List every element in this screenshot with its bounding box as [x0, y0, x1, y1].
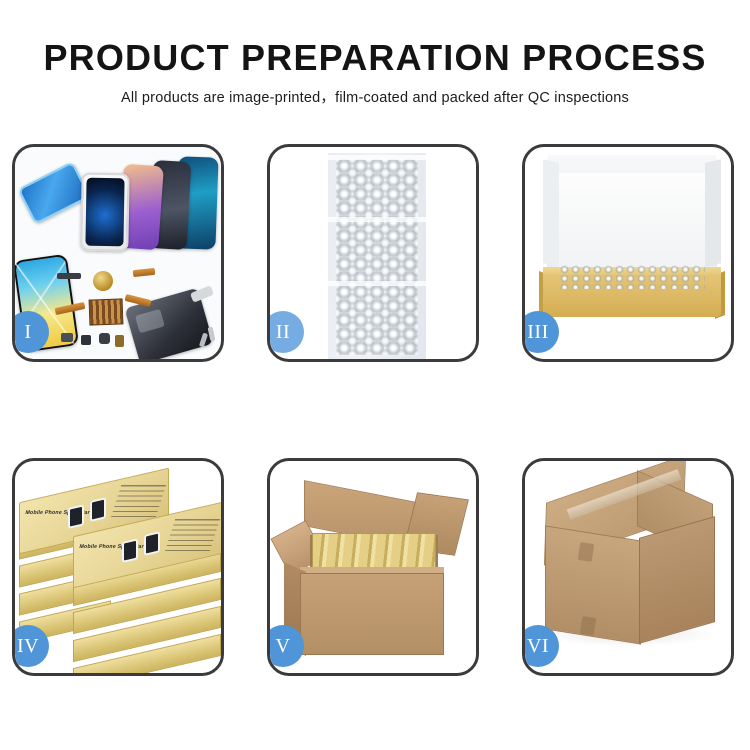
small-part-icon	[57, 273, 81, 279]
tweezers-icon	[190, 285, 214, 303]
chip-grid-icon	[89, 298, 124, 325]
page-subtitle: All products are image-printed，film-coat…	[0, 88, 750, 108]
small-part-icon	[61, 333, 73, 342]
phone-thumbnail-icon	[122, 538, 138, 563]
carton-tab-icon	[578, 542, 595, 562]
step-1-image: I	[15, 147, 221, 359]
spec-text-lines	[165, 516, 221, 551]
step-badge-5: V	[270, 625, 304, 667]
step-badge-3: III	[525, 311, 559, 353]
small-part-icon	[99, 333, 110, 344]
process-step-panel-2[interactable]: II	[267, 144, 479, 362]
phone-thumbnail-icon	[68, 504, 84, 529]
box-flap-left-icon	[543, 159, 559, 266]
retail-box-label-title: Mobile Phone Spare Parts	[25, 510, 96, 516]
phone-display-black-icon	[80, 173, 129, 252]
step-2-image: II	[270, 147, 476, 359]
box-flap-right-icon	[705, 159, 721, 266]
speaker-coil-icon	[93, 271, 113, 291]
phone-thumbnail-icon	[144, 531, 160, 556]
step-badge-2: II	[270, 311, 304, 353]
step-6-image: VI	[525, 461, 731, 673]
sleeve-seal-icon	[328, 217, 426, 222]
retail-box-label-title: Mobile Phone Spare Parts	[79, 544, 150, 550]
page-title: PRODUCT PREPARATION PROCESS	[0, 36, 750, 80]
step-3-image: III	[525, 147, 731, 359]
step-badge-6: VI	[525, 625, 559, 667]
small-part-icon	[115, 335, 124, 347]
process-step-panel-4[interactable]: Mobile Phone Spare Parts Mobile Phone Sp…	[12, 458, 224, 676]
small-part-icon	[81, 335, 91, 345]
blue-film-screen-icon	[17, 161, 90, 225]
sleeve-seal-icon	[328, 155, 426, 160]
product-preparation-infographic: PRODUCT PREPARATION PROCESS All products…	[0, 0, 750, 750]
sealed-carton-side-icon	[639, 516, 715, 644]
bubble-wrap-icon	[336, 159, 418, 355]
phone-thumbnail-icon	[90, 497, 106, 522]
step-4-image: Mobile Phone Spare Parts Mobile Phone Sp…	[15, 461, 221, 673]
box-lid-inner-icon	[557, 173, 707, 267]
process-step-panel-3[interactable]: III	[522, 144, 734, 362]
process-step-panel-5[interactable]: V	[267, 458, 479, 676]
flex-cable-icon	[133, 268, 156, 277]
sleeve-seal-icon	[328, 281, 426, 286]
header: PRODUCT PREPARATION PROCESS All products…	[0, 36, 750, 108]
carton-body-icon	[300, 573, 444, 655]
bubble-wrapped-contents-icon	[559, 265, 705, 289]
carton-tab-icon	[580, 616, 597, 636]
process-step-grid: I II	[12, 144, 738, 676]
spec-text-lines	[111, 482, 167, 517]
process-step-panel-6[interactable]: VI	[522, 458, 734, 676]
step-5-image: V	[270, 461, 476, 673]
process-step-panel-1[interactable]: I	[12, 144, 224, 362]
